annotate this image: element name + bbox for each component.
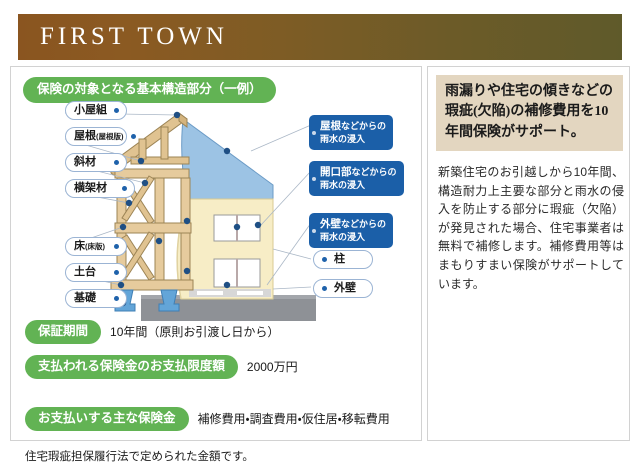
marker-dot-icon [114, 244, 119, 249]
part-label-text: 斜材 [74, 157, 96, 168]
brand-title: FIRST TOWN [40, 23, 228, 51]
part-label-text: 柱 [334, 254, 345, 265]
part-label-dodai: 土台 [65, 263, 127, 282]
marker-dot-icon [312, 229, 316, 233]
callout-keyword: 外壁 [320, 218, 341, 230]
info-label: 保証期間 [25, 320, 101, 344]
part-label-hashira: 柱 [313, 250, 373, 269]
callout-line2: 雨水の浸入 [320, 180, 365, 190]
marker-dot-icon [312, 131, 316, 135]
part-label-shazai: 斜材 [65, 153, 127, 172]
info-label: お支払いする主な保険金 [25, 407, 189, 431]
marker-dot-icon [322, 257, 327, 262]
info-value: 2000万円 [247, 358, 298, 375]
info-label: 支払われる保険金のお支払限度額 [25, 355, 238, 379]
insurance-coverage-card: 保険の対象となる基本構造部分（一例） [10, 66, 422, 441]
callout-opening-water-intrusion: 開口部などからの 雨水の浸入 [309, 161, 404, 196]
info-row-covered-payments: お支払いする主な保険金 補修費用・調査費用・仮住居・移転費用 [25, 407, 390, 431]
headline-band: 雨漏りや住宅の傾きなどの瑕疵(欠陥)の補修費用を10年間保険がサポート。 [436, 75, 623, 151]
marker-dot-icon [131, 134, 136, 139]
part-label-text: 横架材 [74, 183, 107, 194]
info-value: 10年間（原則お引渡し日から） [110, 323, 279, 340]
callout-line2: 雨水の浸入 [320, 232, 365, 242]
part-label-yane: 屋根(屋根版) [65, 127, 127, 146]
info-value: 補修費用・調査費用・仮住居・移転費用 [198, 410, 390, 427]
part-label-text: 小屋組 [74, 105, 107, 116]
part-label-kiso: 基礎 [65, 289, 127, 308]
header-banner: FIRST TOWN [18, 14, 622, 60]
callout-rest: などからの [341, 219, 386, 229]
callout-line2: 雨水の浸入 [320, 134, 365, 144]
part-label-text: 屋根(屋根版) [74, 131, 124, 142]
marker-dot-icon [114, 108, 119, 113]
part-label-text: 土台 [74, 267, 96, 278]
marker-dot-icon [312, 177, 316, 181]
callout-keyword: 開口部 [320, 166, 352, 178]
part-label-text: 基礎 [74, 293, 96, 304]
marker-dot-icon [114, 270, 119, 275]
marker-dot-icon [322, 286, 327, 291]
marker-dot-icon [114, 296, 119, 301]
info-row-warranty-period: 保証期間 10年間（原則お引渡し日から） [25, 320, 279, 344]
part-label-gaiheki: 外壁 [313, 279, 373, 298]
headline-text: 雨漏りや住宅の傾きなどの瑕疵(欠陥)の補修費用を10年間保険がサポート。 [445, 82, 615, 143]
callout-wall-water-intrusion: 外壁などからの 雨水の浸入 [309, 213, 393, 248]
callout-keyword: 屋根 [320, 120, 341, 132]
callout-roof-water-intrusion: 屋根などからの 雨水の浸入 [309, 115, 393, 150]
insurance-summary-card: 雨漏りや住宅の傾きなどの瑕疵(欠陥)の補修費用を10年間保険がサポート。 新築住… [427, 66, 630, 441]
part-label-text: 外壁 [334, 283, 356, 294]
part-label-koyagumi: 小屋組 [65, 101, 127, 120]
part-label-oukazai: 横架材 [65, 179, 135, 198]
payout-limit-note: 住宅瑕疵担保履行法で定められた金額です。 [25, 448, 254, 464]
info-row-payout-limit: 支払われる保険金のお支払限度額 2000万円 [25, 355, 298, 379]
callout-rest: などからの [341, 121, 386, 131]
callout-rest: などからの [352, 167, 397, 177]
part-label-yuka: 床(床版) [65, 237, 127, 256]
part-label-text: 床(床版) [74, 241, 105, 252]
marker-dot-icon [114, 160, 119, 165]
summary-body-text: 新築住宅のお引越しから10年間、構造耐力上主要な部分と雨水の侵入を防止する部分に… [438, 163, 624, 293]
marker-dot-icon [122, 186, 127, 191]
